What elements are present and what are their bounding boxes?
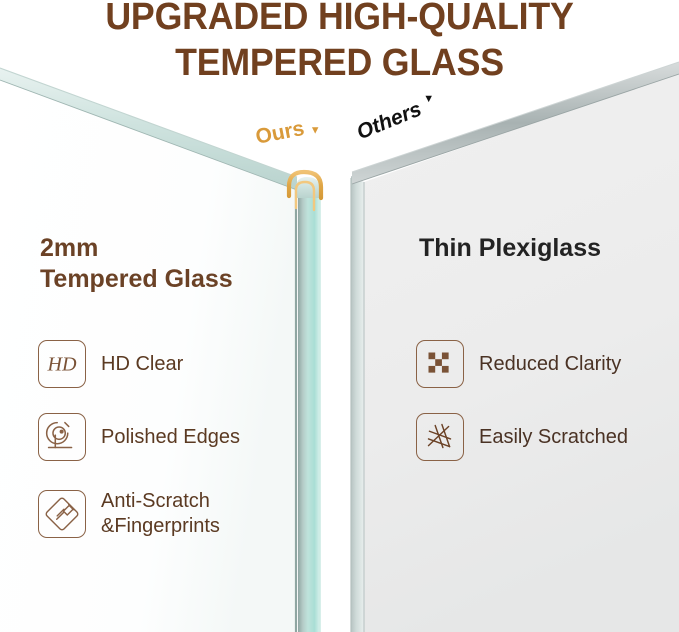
feature-label: Anti-Scratch &Fingerprints [101,489,220,539]
feature-reduced-clarity: Reduced Clarity [416,340,628,388]
caret-down-icon: ▼ [423,94,434,105]
page-title: UPGRADED HIGH-QUALITY TEMPERED GLASS [20,0,658,86]
ours-heading: 2mm Tempered Glass [40,233,233,295]
hd-icon: HD [38,340,86,388]
feature-polished-edges: Polished Edges [38,413,240,461]
others-feature-list: Reduced Clarity Easily Scratched [416,340,628,486]
ours-feature-list: HD HD Clear Polished Edges [38,340,240,567]
svg-text:HD: HD [46,354,77,376]
feature-label: HD Clear [101,352,183,377]
infographic-canvas: UPGRADED HIGH-QUALITY TEMPERED GLASS Our… [0,0,679,632]
feature-label: Reduced Clarity [479,352,621,377]
feature-easily-scratched: Easily Scratched [416,413,628,461]
others-heading: Thin Plexiglass [419,233,601,264]
feature-hd-clear: HD HD Clear [38,340,240,388]
caret-down-icon: ▼ [310,125,321,136]
anti-scratch-brush-icon [38,490,86,538]
checkerboard-mosaic-icon [416,340,464,388]
feature-anti-scratch: Anti-Scratch &Fingerprints [38,486,240,542]
polishing-wheel-icon [38,413,86,461]
feature-label: Easily Scratched [479,425,628,450]
feature-label: Polished Edges [101,425,240,450]
scratch-lines-icon [416,413,464,461]
